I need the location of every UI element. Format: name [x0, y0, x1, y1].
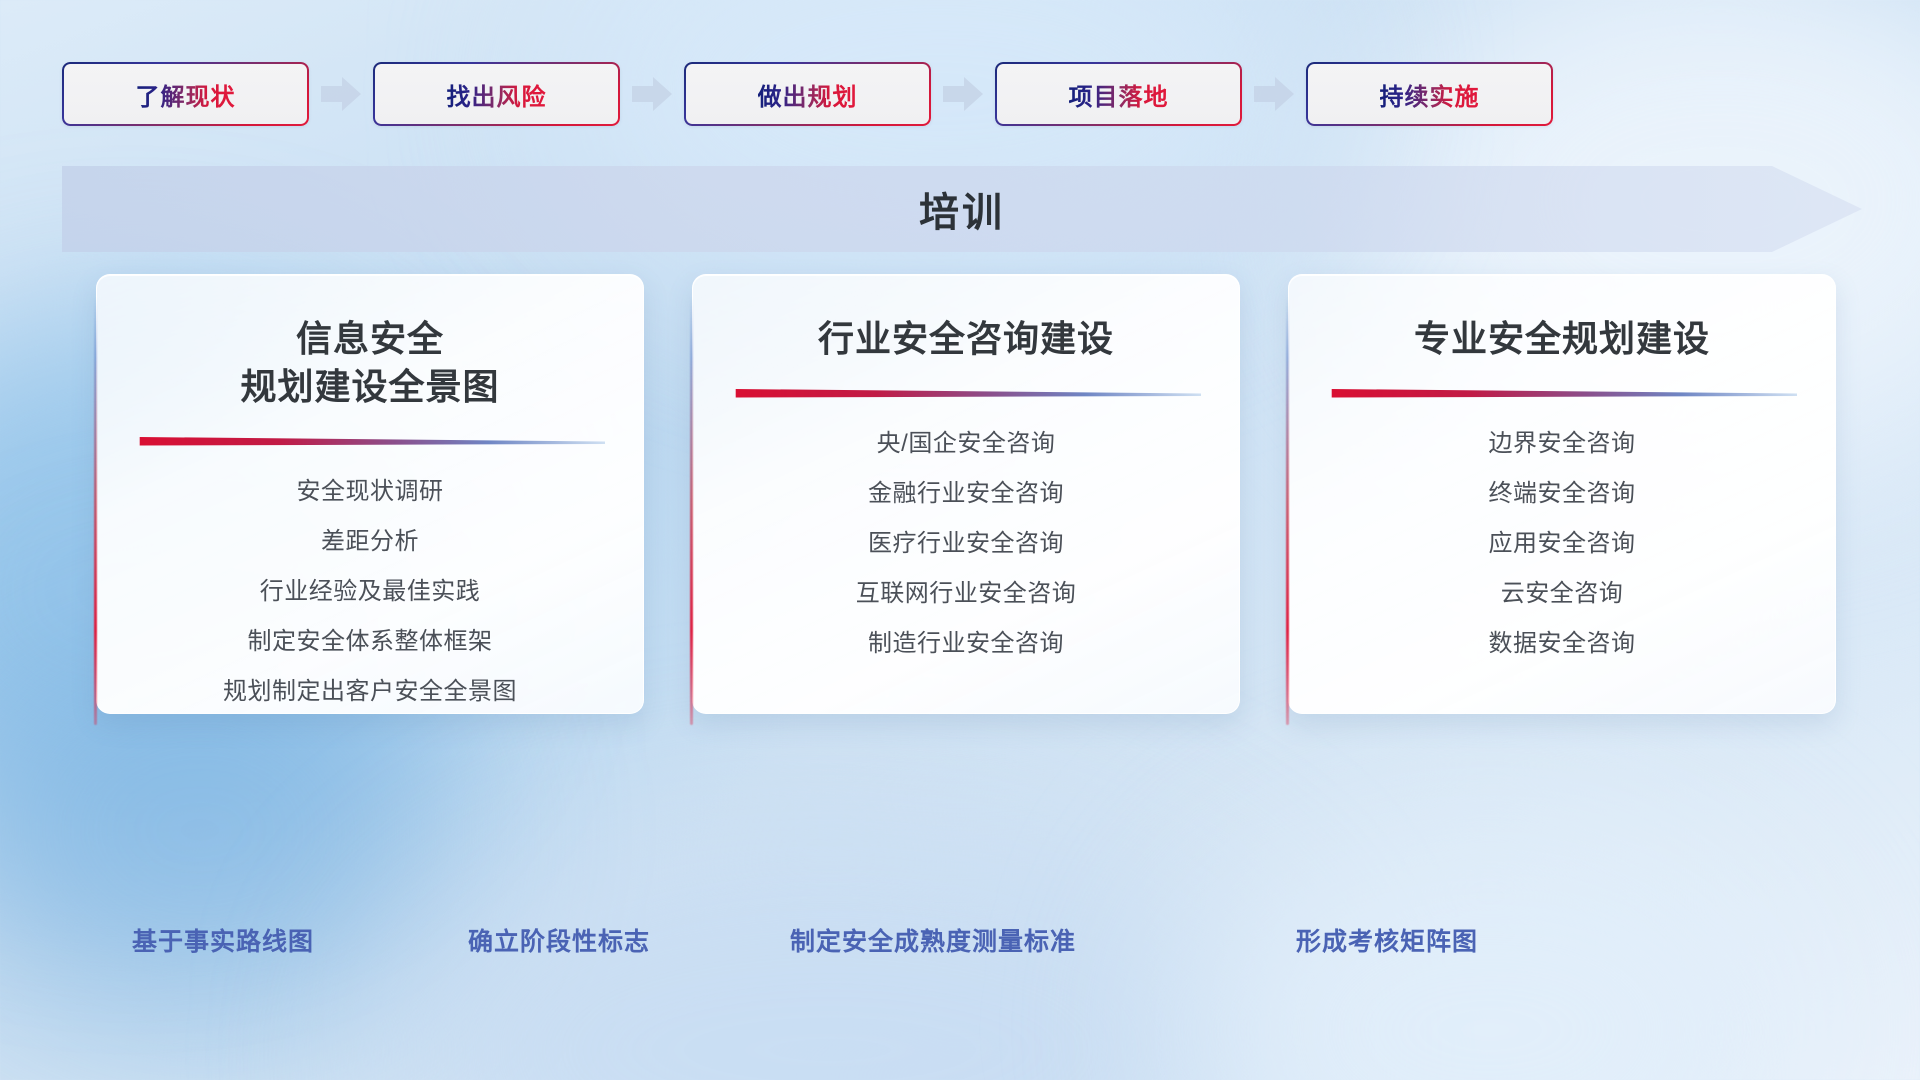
list-item[interactable]: 应用安全咨询 — [1489, 519, 1636, 569]
flow-step-5[interactable]: 持续实施 — [1306, 62, 1553, 126]
banner-title: 培训 — [62, 160, 1862, 258]
list-item[interactable]: 行业经验及最佳实践 — [260, 567, 481, 617]
list-item[interactable]: 制造行业安全咨询 — [868, 619, 1064, 669]
card-3[interactable]: 专业安全规划建设边界安全咨询终端安全咨询应用安全咨询云安全咨询数据安全咨询 — [1288, 274, 1836, 714]
list-item[interactable]: 制定安全体系整体框架 — [248, 617, 493, 667]
card-2[interactable]: 行业安全咨询建设央/国企安全咨询金融行业安全咨询医疗行业安全咨询互联网行业安全咨… — [692, 274, 1240, 714]
card-1[interactable]: 信息安全 规划建设全景图安全现状调研差距分析行业经验及最佳实践制定安全体系整体框… — [96, 274, 644, 714]
process-flow: 了解现状找出风险做出规划项目落地持续实施 — [62, 62, 1862, 126]
flow-step-4[interactable]: 项目落地 — [995, 62, 1242, 126]
flow-arrow-icon — [931, 76, 995, 112]
list-item[interactable]: 规划制定出客户安全全景图 — [223, 667, 517, 717]
footnote-label-2: 确立阶段性标志 — [468, 922, 650, 958]
flow-arrow-icon — [309, 76, 373, 112]
card-divider-icon — [1327, 385, 1797, 399]
flow-step-label: 做出规划 — [758, 77, 858, 112]
list-item[interactable]: 安全现状调研 — [297, 467, 444, 517]
list-item[interactable]: 终端安全咨询 — [1489, 469, 1636, 519]
footnote-label-1: 基于事实路线图 — [132, 922, 314, 958]
flow-arrow-icon — [620, 76, 684, 112]
list-item[interactable]: 云安全咨询 — [1501, 569, 1624, 619]
card-title: 专业安全规划建设 — [1414, 315, 1710, 363]
flow-step-label: 找出风险 — [447, 77, 547, 112]
card-title: 信息安全 规划建设全景图 — [240, 315, 499, 411]
footnote-label-4: 形成考核矩阵图 — [1296, 922, 1478, 958]
flow-step-1[interactable]: 了解现状 — [62, 62, 309, 126]
list-item[interactable]: 互联网行业安全咨询 — [856, 569, 1077, 619]
list-item[interactable]: 金融行业安全咨询 — [868, 469, 1064, 519]
card-list: 边界安全咨询终端安全咨询应用安全咨询云安全咨询数据安全咨询 — [1315, 419, 1809, 669]
list-item[interactable]: 差距分析 — [321, 517, 419, 567]
card-title: 行业安全咨询建设 — [818, 315, 1114, 363]
flow-step-2[interactable]: 找出风险 — [373, 62, 620, 126]
list-item[interactable]: 边界安全咨询 — [1489, 419, 1636, 469]
training-banner: 培训 — [62, 160, 1862, 258]
card-divider-icon — [731, 385, 1201, 399]
flow-step-label: 项目落地 — [1069, 77, 1169, 112]
footnote-group: 基于事实路线图确立阶段性标志制定安全成熟度测量标准形成考核矩阵图 — [0, 922, 1920, 970]
flow-arrow-icon — [1242, 76, 1306, 112]
flow-step-3[interactable]: 做出规划 — [684, 62, 931, 126]
list-item[interactable]: 央/国企安全咨询 — [877, 419, 1056, 469]
list-item[interactable]: 医疗行业安全咨询 — [868, 519, 1064, 569]
flow-step-label: 了解现状 — [136, 77, 236, 112]
card-list: 央/国企安全咨询金融行业安全咨询医疗行业安全咨询互联网行业安全咨询制造行业安全咨… — [719, 419, 1213, 669]
card-group: 信息安全 规划建设全景图安全现状调研差距分析行业经验及最佳实践制定安全体系整体框… — [96, 274, 1836, 714]
card-list: 安全现状调研差距分析行业经验及最佳实践制定安全体系整体框架规划制定出客户安全全景… — [123, 467, 617, 717]
footnote-label-3: 制定安全成熟度测量标准 — [790, 922, 1076, 958]
card-divider-icon — [135, 433, 605, 447]
flow-step-label: 持续实施 — [1380, 77, 1480, 112]
list-item[interactable]: 数据安全咨询 — [1489, 619, 1636, 669]
